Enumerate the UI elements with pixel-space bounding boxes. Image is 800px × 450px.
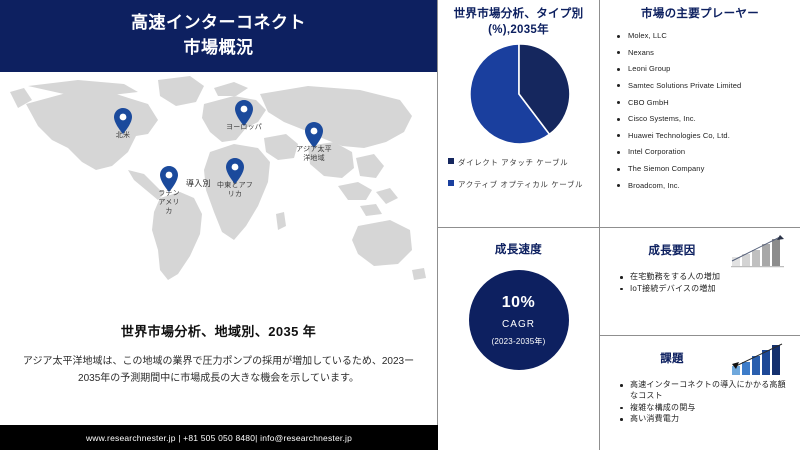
location-pin-icon: [235, 100, 253, 126]
list-item: Nexans: [628, 49, 792, 58]
map-pin-label-europe: ヨーロッパ: [209, 124, 279, 133]
cagr-value: 10%: [502, 294, 536, 312]
hero-header: 高速インターコネクト 市場概況: [0, 0, 437, 72]
challenges-panel: 課題 高速インターコネクトの導入にかかる高額なコスト 複雑な構成の関与 高い消費…: [600, 336, 800, 450]
list-item: IoT接続デバイスの増加: [630, 284, 792, 295]
growth-rate-title: 成長速度: [495, 242, 542, 258]
hero-title-line1: 高速インターコネクト: [131, 11, 306, 36]
pie-chart-svg: [467, 42, 571, 146]
list-item: 高い消費電力: [630, 414, 792, 425]
cagr-period-label: (2023-2035年): [492, 336, 546, 347]
list-item: 高速インターコネクトの導入にかかる高額なコスト: [630, 380, 792, 402]
location-pin-icon: [160, 166, 178, 192]
legend-item-active-optical: アクティブ オプティカル ケーブル: [448, 179, 591, 190]
key-players-list: Molex, LLC Nexans Leoni Group Samtec Sol…: [608, 32, 792, 190]
hero-title-line2: 市場概況: [131, 36, 306, 61]
growth-drivers-title: 成長要因: [614, 243, 730, 259]
list-item: 在宅勤務をする人の増加: [630, 272, 792, 283]
region-section-title: 世界市場分析、地域別、2035 年: [22, 321, 415, 340]
growth-drivers-list: 在宅勤務をする人の増加 IoT接続デバイスの増加: [608, 272, 792, 295]
pie-legend: ダイレクト アタッチ ケーブル アクティブ オプティカル ケーブル: [446, 157, 591, 201]
legend-swatch-icon: [448, 158, 454, 164]
legend-item-direct-attach: ダイレクト アタッチ ケーブル: [448, 157, 591, 168]
right-panel-grid: 世界市場分析、タイプ別(%),2035年 ダイレクト アタッチ ケーブル アクテ…: [438, 0, 800, 450]
list-item: Samtec Solutions Private Limited: [628, 82, 792, 91]
list-item: Intel Corporation: [628, 148, 792, 157]
map-pin-label-latin-america: ラテン アメリ カ: [134, 190, 204, 216]
footer-contact-text: www.researchnester.jp | +81 505 050 8480…: [86, 433, 352, 443]
location-pin-icon: [305, 122, 323, 148]
location-pin-icon: [114, 108, 132, 134]
challenges-header: 課題: [608, 342, 792, 376]
growth-drivers-panel: 成長要因 在宅勤務をする人の増加 IoT接続デバイスの増加: [600, 228, 800, 336]
ascending-bar-chart-blue-icon: [730, 342, 786, 376]
location-pin-icon: [226, 158, 244, 184]
growth-drivers-header: 成長要因: [608, 234, 792, 268]
legend-label-direct-attach: ダイレクト アタッチ ケーブル: [458, 157, 568, 168]
map-pin-latin-america[interactable]: ラテン アメリ カ: [134, 166, 204, 216]
market-by-type-title: 世界市場分析、タイプ別(%),2035年: [446, 6, 591, 38]
market-by-type-pie-chart: [467, 42, 571, 151]
list-item: The Siemon Company: [628, 165, 792, 174]
list-item: CBO GmbH: [628, 99, 792, 108]
legend-label-active-optical: アクティブ オプティカル ケーブル: [458, 179, 583, 190]
market-by-type-panel: 世界市場分析、タイプ別(%),2035年 ダイレクト アタッチ ケーブル アクテ…: [438, 0, 600, 228]
page-title: 高速インターコネクト 市場概況: [131, 11, 306, 60]
list-item: Huawei Technologies Co, Ltd.: [628, 132, 792, 141]
region-section-description: アジア太平洋地域は、この地域の業界で圧力ポンプの採用が増加しているため、2023…: [22, 354, 415, 387]
world-map-region: 北米 ヨーロッパ アジア太平 洋地域: [0, 72, 437, 307]
key-players-title: 市場の主要プレーヤー: [608, 6, 792, 22]
ascending-bar-chart-gray-icon: [730, 234, 786, 268]
map-pin-label-north-america: 北米: [88, 132, 158, 141]
map-pin-europe[interactable]: ヨーロッパ: [209, 100, 279, 133]
growth-rate-panel: 成長速度 10% CAGR (2023-2035年): [438, 228, 600, 450]
map-overlay-label-deployment: 導入別: [186, 178, 211, 189]
infographic-canvas: 高速インターコネクト 市場概況: [0, 0, 800, 450]
legend-swatch-icon: [448, 180, 454, 186]
cagr-circle: 10% CAGR (2023-2035年): [469, 270, 569, 370]
list-item: Cisco Systems, Inc.: [628, 115, 792, 124]
list-item: Leoni Group: [628, 65, 792, 74]
challenges-title: 課題: [614, 351, 730, 367]
challenges-list: 高速インターコネクトの導入にかかる高額なコスト 複雑な構成の関与 高い消費電力: [608, 380, 792, 425]
list-item: Broadcom, Inc.: [628, 182, 792, 191]
cagr-metric-label: CAGR: [502, 319, 535, 330]
list-item: 複雑な構成の関与: [630, 403, 792, 414]
left-column: 高速インターコネクト 市場概況: [0, 0, 438, 450]
map-pin-north-america[interactable]: 北米: [88, 108, 158, 141]
key-players-panel: 市場の主要プレーヤー Molex, LLC Nexans Leoni Group…: [600, 0, 800, 228]
map-pin-asia-pacific[interactable]: アジア太平 洋地域: [279, 122, 349, 164]
footer-contact-bar: www.researchnester.jp | +81 505 050 8480…: [0, 425, 438, 450]
map-pin-label-asia-pacific: アジア太平 洋地域: [279, 146, 349, 164]
list-item: Molex, LLC: [628, 32, 792, 41]
